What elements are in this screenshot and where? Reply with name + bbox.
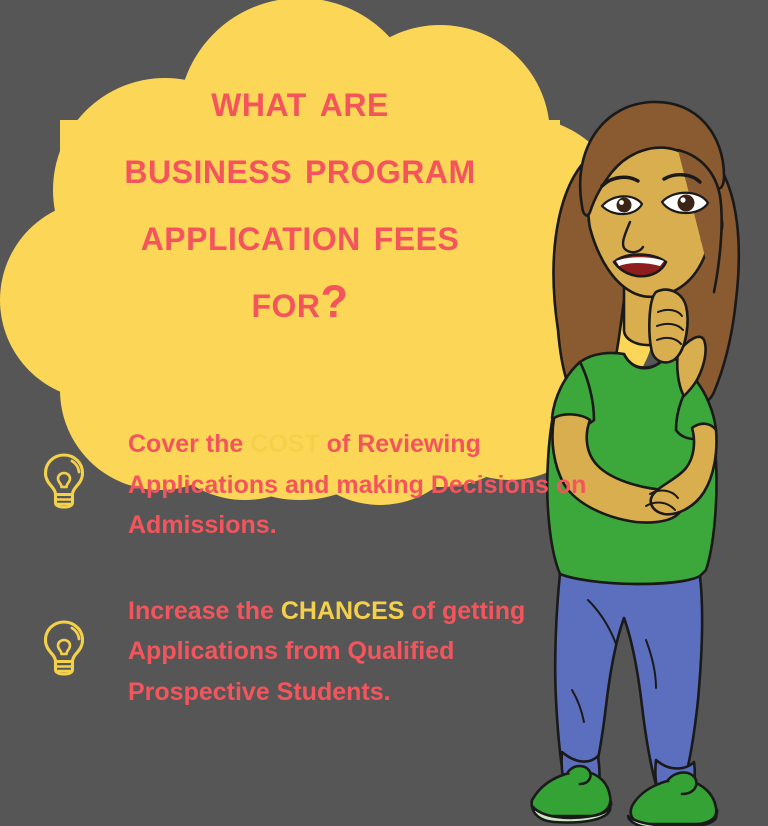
bullet-item-2: Increase the CHANCES of getting Applicat…	[0, 591, 768, 713]
bullet-text-2: Increase the CHANCES of getting Applicat…	[128, 591, 602, 713]
poster-title: What Are Business Program Application Fe…	[0, 78, 600, 324]
shoe-left	[532, 772, 611, 816]
eye-highlight-left	[619, 200, 624, 205]
hand-on-chin	[649, 290, 687, 363]
title-line-1: What Are	[0, 78, 600, 123]
bullet-icon-cell-2	[0, 591, 128, 677]
title-line-4: For?	[0, 279, 600, 324]
bullet-icon-cell-1	[0, 424, 128, 510]
bullet-text-1: Cover the COST of Reviewing Applications…	[128, 424, 602, 546]
title-line-2: Business Program	[0, 145, 600, 190]
shoe-right	[631, 780, 717, 824]
bullet-1-highlight: COST	[250, 430, 319, 458]
bullet-item-1: Cover the COST of Reviewing Applications…	[0, 424, 768, 546]
bullet-2-seg-1: Increase the	[128, 597, 281, 625]
bullet-2-highlight: CHANCES	[281, 597, 405, 625]
pupil-right	[678, 195, 695, 212]
pupil-left	[617, 198, 632, 213]
title-line-3: Application Fees	[0, 212, 600, 257]
lightbulb-icon	[42, 619, 86, 677]
bullet-list: Cover the COST of Reviewing Applications…	[0, 424, 768, 757]
eye-highlight-right	[680, 197, 685, 202]
lightbulb-icon	[42, 452, 86, 510]
infographic-poster: What Are Business Program Application Fe…	[0, 0, 768, 826]
bullet-1-seg-1: Cover the	[128, 430, 250, 458]
